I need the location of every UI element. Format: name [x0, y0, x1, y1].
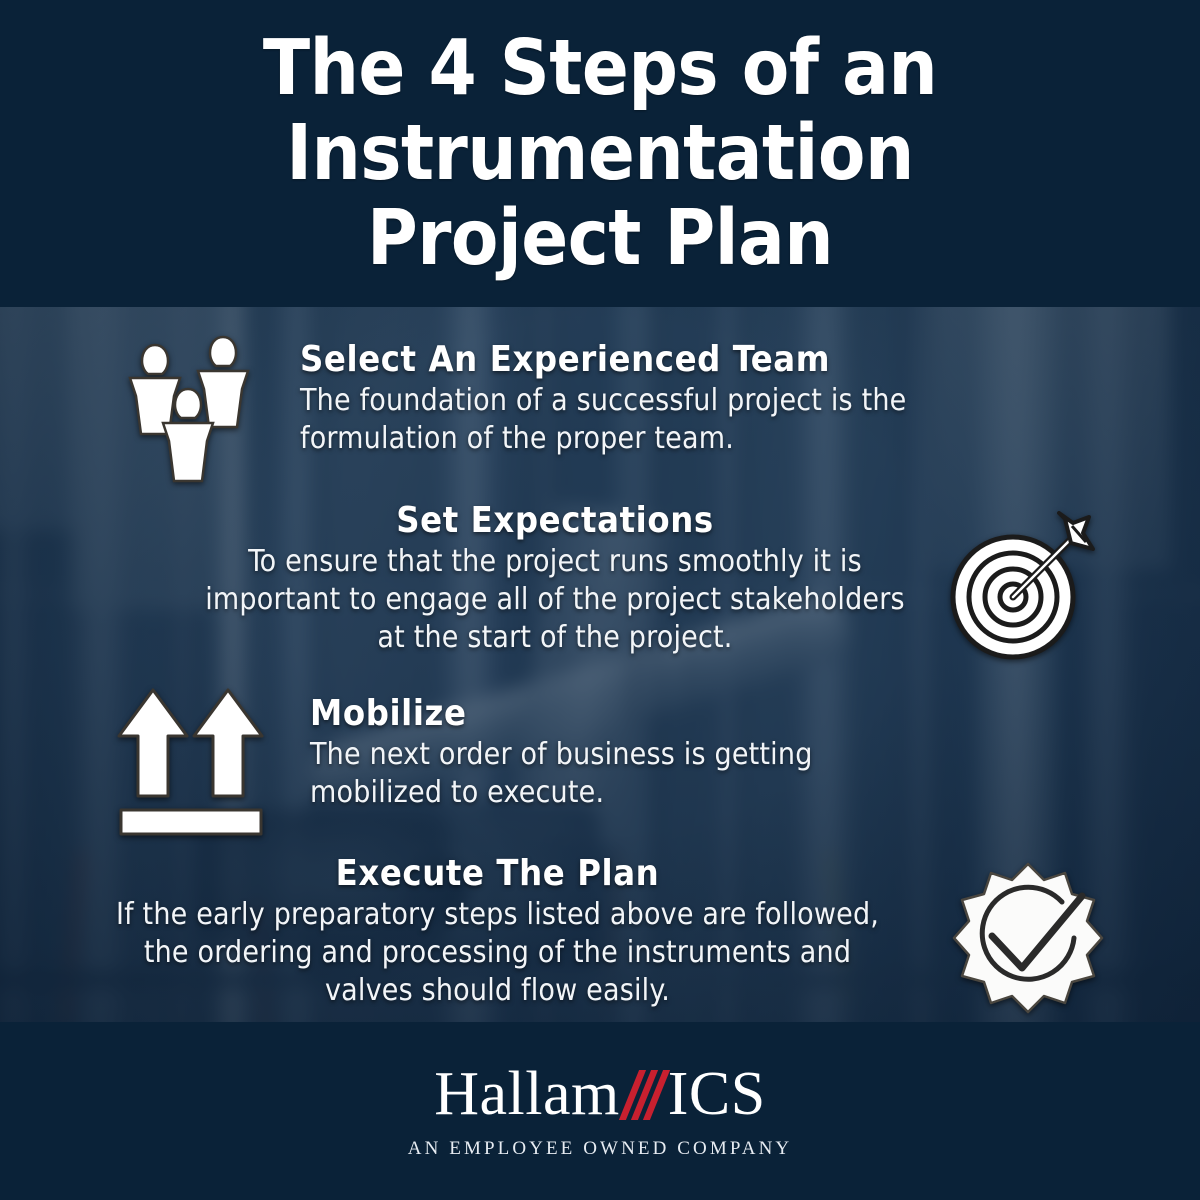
- step-title: Mobilize: [310, 692, 930, 736]
- up-arrows-icon: [115, 688, 275, 840]
- step-item-execute-plan: Execute The Plan If the early preparator…: [110, 852, 885, 1010]
- badge-check-icon: [952, 862, 1104, 1014]
- footer-band: Hallam ICS AN EMPLOYEE OWNED COMPANY: [0, 1022, 1200, 1200]
- infographic-poster: The 4 Steps of an Instrumentation Projec…: [0, 0, 1200, 1200]
- logo-slash-mark-icon: [620, 1066, 666, 1122]
- target-arrow-icon: [945, 505, 1100, 665]
- hallam-ics-logo: Hallam ICS: [434, 1063, 765, 1125]
- title-line-3: Project Plan: [367, 194, 833, 283]
- step-item-select-team: Select An Experienced Team The foundatio…: [300, 338, 980, 458]
- step-item-mobilize: Mobilize The next order of business is g…: [310, 692, 930, 812]
- step-body: To ensure that the project runs smoothly…: [195, 543, 915, 657]
- step-body: The foundation of a successful project i…: [300, 382, 980, 458]
- step-body: If the early preparatory steps listed ab…: [110, 896, 885, 1010]
- step-item-set-expectations: Set Expectations To ensure that the proj…: [195, 499, 915, 657]
- logo-word-ics: ICS: [668, 1063, 766, 1125]
- step-title: Execute The Plan: [110, 852, 885, 896]
- page-title: The 4 Steps of an Instrumentation Projec…: [223, 26, 977, 281]
- step-title: Select An Experienced Team: [300, 338, 980, 382]
- title-line-1: The 4 Steps of an: [263, 24, 937, 113]
- step-title: Set Expectations: [195, 499, 915, 543]
- three-people-icon: [118, 326, 268, 491]
- logo-tagline: AN EMPLOYEE OWNED COMPANY: [408, 1138, 793, 1160]
- step-body: The next order of business is getting mo…: [310, 736, 930, 812]
- title-line-2: Instrumentation: [286, 109, 914, 198]
- logo-word-hallam: Hallam: [434, 1063, 620, 1125]
- header-band: The 4 Steps of an Instrumentation Projec…: [0, 0, 1200, 307]
